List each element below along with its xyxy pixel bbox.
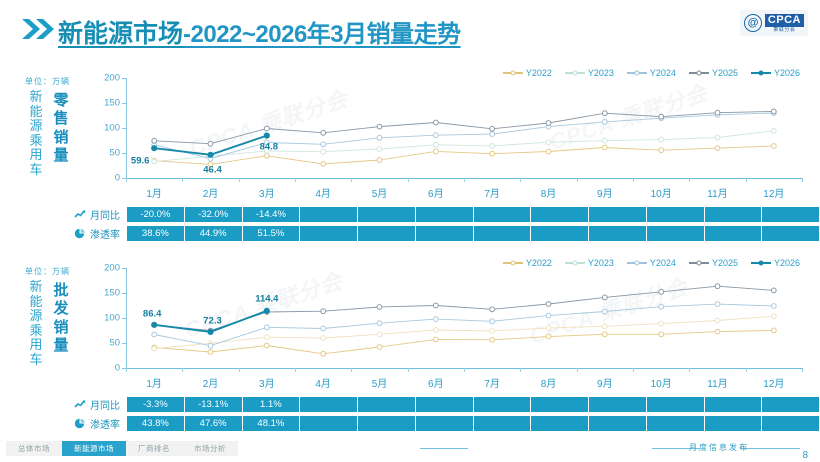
- table-cell: [589, 226, 647, 241]
- table-cell: [762, 207, 819, 222]
- table-cell: [358, 397, 416, 412]
- retail-plot-area: CPCA 乘联分会 CPCA 乘联分会 0501001502001月2月3月4月…: [126, 78, 802, 178]
- footer-caption: 月度信息发布: [689, 442, 749, 453]
- y-axis-tick-label: 0: [115, 363, 120, 374]
- table-cell: [474, 397, 532, 412]
- table-cell: [416, 207, 474, 222]
- series-point-y2024: [264, 325, 269, 330]
- legend-label: Y2022: [526, 258, 552, 268]
- slide-page: 新能源市场 -2022~2026年3月销量走势 @ CPCA 乘联分会 单位：万…: [0, 0, 820, 462]
- series-point-y2025: [264, 126, 269, 131]
- legend-swatch-icon: [751, 72, 771, 73]
- series-point-y2022: [264, 343, 269, 348]
- series-point-y2025: [771, 109, 776, 114]
- data-point-label: 46.4: [203, 164, 222, 175]
- legend-marker-icon: [758, 70, 763, 75]
- legend-swatch-icon: [627, 262, 647, 263]
- series-point-y2023: [433, 142, 438, 147]
- table-cell: -20.0%: [127, 207, 185, 222]
- table-row-label-text: 渗透率: [90, 226, 120, 241]
- series-point-y2025: [546, 121, 551, 126]
- table-row-label: 月同比: [0, 396, 126, 413]
- table-row: 月同比-3.3%-13.1%1.1%: [0, 396, 820, 413]
- logo-emblem-icon: @: [744, 14, 762, 32]
- x-axis-tick: [408, 178, 409, 182]
- y-axis-tick-label: 150: [104, 288, 120, 299]
- series-point-y2023: [433, 328, 438, 333]
- wholesale-category-label: 新能源乘用车: [28, 280, 44, 367]
- x-axis-tick: [464, 368, 465, 372]
- x-axis-tick-label: 12月: [763, 375, 784, 390]
- table-cell: -14.4%: [243, 207, 301, 222]
- legend-item-y2026[interactable]: Y2026: [751, 258, 800, 268]
- series-point-y2024: [490, 319, 495, 324]
- table-cell: [300, 207, 358, 222]
- series-point-y2025: [321, 309, 326, 314]
- table-cell: -13.1%: [185, 397, 243, 412]
- series-point-y2022: [546, 149, 551, 154]
- table-cell: [589, 416, 647, 431]
- retail-stats-table: 月同比-20.0%-32.0%-14.4%渗透率38.6%44.9%51.5%: [0, 206, 820, 242]
- legend-marker-icon: [510, 70, 515, 75]
- table-cell: [705, 226, 763, 241]
- footer-tab-item[interactable]: 总体市场: [6, 441, 62, 456]
- series-point-y2023: [152, 346, 157, 351]
- page-title: 新能源市场 -2022~2026年3月销量走势: [58, 14, 461, 50]
- table-row-label-text: 月同比: [90, 207, 120, 222]
- table-row-label: 渗透率: [0, 225, 126, 242]
- x-axis-tick-label: 11月: [707, 375, 727, 390]
- series-point-y2025: [490, 126, 495, 131]
- series-line-y2023: [154, 131, 774, 162]
- table-cell: [300, 397, 358, 412]
- legend-swatch-icon: [689, 72, 709, 73]
- x-axis-tick-label: 1月: [146, 185, 162, 200]
- series-point-y2022: [771, 144, 776, 149]
- legend-label: Y2025: [712, 68, 738, 78]
- page-title-rest: -2022~2026年3月销量走势: [183, 14, 461, 49]
- y-axis-tick: [122, 128, 126, 129]
- x-axis-tick-label: 10月: [651, 185, 672, 200]
- table-cell: [474, 207, 532, 222]
- series-point-y2026: [152, 322, 157, 327]
- legend-label: Y2026: [774, 68, 800, 78]
- footer-tab-item[interactable]: 厂商排名: [126, 441, 182, 456]
- series-point-y2023: [377, 147, 382, 152]
- series-point-y2022: [490, 337, 495, 342]
- table-cell: 51.5%: [243, 226, 301, 241]
- legend-swatch-icon: [503, 262, 523, 263]
- series-point-y2024: [433, 317, 438, 322]
- y-axis-tick: [122, 78, 126, 79]
- series-point-y2025: [321, 130, 326, 135]
- series-point-y2023: [771, 314, 776, 319]
- footer-tab-active[interactable]: 新能源市场: [62, 441, 126, 456]
- x-axis-tick: [689, 178, 690, 182]
- x-axis-tick-label: 5月: [372, 185, 388, 200]
- table-cell: 47.6%: [185, 416, 243, 431]
- series-point-y2022: [602, 145, 607, 150]
- retail-metric-label: 零售销量: [52, 92, 70, 165]
- series-point-y2023: [771, 128, 776, 133]
- x-axis-tick: [182, 368, 183, 372]
- table-cells: 43.8%47.6%48.1%: [126, 415, 820, 432]
- series-point-y2025: [208, 141, 213, 146]
- wholesale-stats-table: 月同比-3.3%-13.1%1.1%渗透率43.8%47.6%48.1%: [0, 396, 820, 432]
- table-cell: [647, 226, 705, 241]
- y-axis-tick: [122, 318, 126, 319]
- table-cell: [531, 416, 589, 431]
- table-cell: [531, 207, 589, 222]
- series-point-y2022: [715, 146, 720, 151]
- y-axis-tick-label: 0: [115, 173, 120, 184]
- page-number: 8: [802, 450, 808, 461]
- series-line-y2022: [154, 146, 774, 164]
- series-point-y2024: [715, 302, 720, 307]
- series-point-y2023: [602, 324, 607, 329]
- series-point-y2024: [602, 120, 607, 125]
- series-point-y2022: [659, 148, 664, 153]
- table-row-label: 渗透率: [0, 415, 126, 432]
- wholesale-legend: Y2022Y2023Y2024Y2025Y2026: [503, 258, 800, 268]
- x-axis-tick: [295, 178, 296, 182]
- series-point-y2025: [152, 138, 157, 143]
- y-axis-tick-label: 200: [104, 263, 120, 274]
- legend-label: Y2026: [774, 258, 800, 268]
- series-point-y2023: [715, 135, 720, 140]
- y-axis-tick-label: 100: [104, 123, 120, 134]
- series-point-y2024: [208, 343, 213, 348]
- series-point-y2024: [771, 304, 776, 309]
- table-cell: 43.8%: [127, 416, 185, 431]
- series-point-y2022: [715, 329, 720, 334]
- legend-swatch-icon: [627, 72, 647, 73]
- x-axis-tick: [239, 368, 240, 372]
- retail-legend: Y2022Y2023Y2024Y2025Y2026: [503, 68, 800, 78]
- x-axis-tick: [746, 178, 747, 182]
- legend-swatch-icon: [751, 262, 771, 263]
- series-point-y2024: [490, 132, 495, 137]
- x-axis-tick-label: 10月: [651, 375, 672, 390]
- legend-item-y2025[interactable]: Y2025: [689, 68, 738, 78]
- data-point-label: 114.4: [255, 293, 278, 304]
- legend-label: Y2024: [650, 258, 676, 268]
- wholesale-series-svg: [126, 268, 802, 368]
- table-cells: 38.6%44.9%51.5%: [126, 225, 820, 242]
- x-axis-tick-label: 5月: [372, 375, 388, 390]
- x-axis-tick-label: 2月: [203, 185, 219, 200]
- table-cell: [474, 416, 532, 431]
- x-axis-tick-label: 4月: [315, 375, 331, 390]
- series-point-y2024: [321, 142, 326, 147]
- cpca-logo: @ CPCA 乘联分会: [740, 10, 808, 36]
- table-cell: [416, 226, 474, 241]
- legend-swatch-icon: [689, 262, 709, 263]
- y-axis-tick-label: 50: [109, 148, 120, 159]
- legend-marker-icon: [510, 260, 515, 265]
- table-cell: 1.1%: [243, 397, 301, 412]
- x-axis-tick: [802, 178, 803, 182]
- legend-label: Y2023: [588, 258, 614, 268]
- table-cell: 38.6%: [127, 226, 185, 241]
- double-chevron-icon: [22, 18, 56, 40]
- series-point-y2024: [546, 313, 551, 318]
- series-point-y2023: [659, 321, 664, 326]
- legend-label: Y2025: [712, 258, 738, 268]
- table-cell: [705, 207, 763, 222]
- x-axis-tick-label: 9月: [597, 185, 613, 200]
- legend-label: Y2023: [588, 68, 614, 78]
- x-axis-tick: [802, 368, 803, 372]
- series-point-y2025: [433, 120, 438, 125]
- x-axis-tick: [746, 368, 747, 372]
- table-cell: 44.9%: [185, 226, 243, 241]
- x-axis-tick: [295, 368, 296, 372]
- slide-footer: 总体市场新能源市场厂商排名市场分析 月度信息发布 8: [0, 438, 820, 462]
- legend-item-y2025[interactable]: Y2025: [689, 258, 738, 268]
- data-point-label: 72.3: [203, 315, 222, 326]
- wholesale-plot-area: CPCA 乘联分会 CPCA 乘联分会 0501001502001月2月3月4月…: [126, 268, 802, 368]
- series-point-y2026: [264, 308, 269, 313]
- series-point-y2025: [602, 295, 607, 300]
- series-point-y2022: [771, 328, 776, 333]
- table-cell: [705, 416, 763, 431]
- x-axis-tick: [689, 368, 690, 372]
- table-cell: [762, 226, 819, 241]
- table-cell: 48.1%: [243, 416, 301, 431]
- series-line-y2024: [154, 113, 774, 159]
- x-axis-tick: [351, 368, 352, 372]
- series-point-y2023: [377, 332, 382, 337]
- legend-item-y2023[interactable]: Y2023: [565, 68, 614, 78]
- table-cell: [531, 226, 589, 241]
- series-point-y2025: [715, 110, 720, 115]
- series-point-y2025: [377, 124, 382, 129]
- series-point-y2025: [546, 302, 551, 307]
- series-point-y2022: [321, 351, 326, 356]
- x-axis-tick-label: 9月: [597, 375, 613, 390]
- table-row: 渗透率38.6%44.9%51.5%: [0, 225, 820, 242]
- legend-item-y2022[interactable]: Y2022: [503, 68, 552, 78]
- series-point-y2023: [546, 326, 551, 331]
- series-point-y2025: [377, 305, 382, 310]
- legend-item-y2022[interactable]: Y2022: [503, 258, 552, 268]
- table-cell: [300, 416, 358, 431]
- table-cell: [647, 416, 705, 431]
- x-axis-tick-label: 6月: [428, 375, 444, 390]
- slide-header: 新能源市场 -2022~2026年3月销量走势 @ CPCA 乘联分会: [0, 0, 820, 52]
- x-axis-tick-label: 2月: [203, 375, 219, 390]
- series-point-y2025: [659, 289, 664, 294]
- x-axis-tick: [520, 368, 521, 372]
- x-axis-tick-label: 8月: [541, 185, 557, 200]
- y-axis-tick: [122, 103, 126, 104]
- table-cell: [358, 207, 416, 222]
- series-point-y2023: [264, 335, 269, 340]
- y-axis-tick: [122, 153, 126, 154]
- series-point-y2025: [771, 288, 776, 293]
- x-axis-tick: [408, 368, 409, 372]
- series-point-y2023: [659, 137, 664, 142]
- series-point-y2022: [433, 337, 438, 342]
- series-point-y2025: [659, 114, 664, 119]
- x-axis-tick-label: 8月: [541, 375, 557, 390]
- table-cell: -32.0%: [185, 207, 243, 222]
- series-point-y2024: [377, 321, 382, 326]
- series-point-y2025: [490, 307, 495, 312]
- table-cell: [589, 207, 647, 222]
- y-axis-tick-label: 200: [104, 73, 120, 84]
- series-point-y2025: [433, 303, 438, 308]
- footer-tab-item[interactable]: 市场分析: [182, 441, 238, 456]
- legend-label: Y2024: [650, 68, 676, 78]
- line-chart-icon: [74, 209, 86, 220]
- legend-marker-icon: [696, 70, 701, 75]
- footer-rule-left: [420, 448, 468, 449]
- series-point-y2023: [321, 149, 326, 154]
- wholesale-metric-label: 批发销量: [52, 282, 70, 355]
- pie-chart-icon: [74, 228, 86, 239]
- legend-marker-icon: [634, 260, 639, 265]
- x-axis-tick-label: 3月: [259, 375, 275, 390]
- x-axis-tick-label: 6月: [428, 185, 444, 200]
- legend-swatch-icon: [565, 72, 585, 73]
- table-row-label: 月同比: [0, 206, 126, 223]
- legend-item-y2024[interactable]: Y2024: [627, 258, 676, 268]
- x-axis-tick-label: 4月: [315, 185, 331, 200]
- series-point-y2024: [659, 304, 664, 309]
- series-point-y2024: [377, 135, 382, 140]
- y-axis-tick: [122, 343, 126, 344]
- legend-swatch-icon: [565, 262, 585, 263]
- series-point-y2022: [602, 332, 607, 337]
- series-point-y2023: [715, 318, 720, 323]
- x-axis-tick: [126, 178, 127, 182]
- footer-tabs: 总体市场新能源市场厂商排名市场分析: [6, 441, 238, 456]
- x-axis-tick-label: 1月: [146, 375, 162, 390]
- series-point-y2023: [490, 144, 495, 149]
- table-cell: [416, 416, 474, 431]
- legend-marker-icon: [572, 70, 577, 75]
- table-cell: [647, 397, 705, 412]
- y-axis-tick-label: 100: [104, 313, 120, 324]
- table-row-label-text: 渗透率: [90, 416, 120, 431]
- series-point-y2025: [602, 111, 607, 116]
- x-axis-tick: [633, 368, 634, 372]
- table-cell: [416, 397, 474, 412]
- series-point-y2022: [377, 158, 382, 163]
- y-axis-tick-label: 150: [104, 98, 120, 109]
- table-row: 月同比-20.0%-32.0%-14.4%: [0, 206, 820, 223]
- retail-chart: Y2022Y2023Y2024Y2025Y2026 CPCA 乘联分会 CPCA…: [78, 70, 806, 200]
- series-point-y2023: [546, 140, 551, 145]
- legend-item-y2024[interactable]: Y2024: [627, 68, 676, 78]
- x-axis-tick: [182, 178, 183, 182]
- table-cell: [358, 416, 416, 431]
- series-point-y2025: [715, 284, 720, 289]
- series-point-y2022: [321, 162, 326, 167]
- retail-series-svg: [126, 78, 802, 178]
- x-axis-tick: [577, 368, 578, 372]
- series-point-y2023: [152, 159, 157, 164]
- x-axis-tick: [126, 368, 127, 372]
- series-point-y2026: [152, 146, 157, 151]
- series-point-y2026: [208, 152, 213, 157]
- legend-item-y2026[interactable]: Y2026: [751, 68, 800, 78]
- legend-marker-icon: [634, 70, 639, 75]
- table-cell: [762, 397, 819, 412]
- table-cell: [647, 207, 705, 222]
- series-line-y2023: [154, 316, 774, 348]
- legend-item-y2023[interactable]: Y2023: [565, 258, 614, 268]
- page-title-cn: 新能源市场: [58, 14, 183, 50]
- table-row: 渗透率43.8%47.6%48.1%: [0, 415, 820, 432]
- series-point-y2022: [546, 334, 551, 339]
- data-point-label: 59.6: [131, 156, 150, 167]
- x-axis-tick: [239, 178, 240, 182]
- x-axis-tick: [351, 178, 352, 182]
- series-line-y2025: [154, 286, 774, 330]
- logo-wordmark: CPCA: [765, 14, 804, 27]
- x-axis-tick-label: 12月: [763, 185, 784, 200]
- line-chart-icon: [74, 399, 86, 410]
- x-axis-tick: [577, 178, 578, 182]
- legend-swatch-icon: [503, 72, 523, 73]
- table-cell: [358, 226, 416, 241]
- x-axis-tick: [520, 178, 521, 182]
- x-axis-tick-label: 7月: [484, 375, 500, 390]
- x-axis-tick: [464, 178, 465, 182]
- series-point-y2024: [433, 133, 438, 138]
- x-axis-tick: [633, 178, 634, 182]
- table-cell: [705, 397, 763, 412]
- legend-label: Y2022: [526, 68, 552, 78]
- data-point-label: 84.8: [260, 141, 279, 152]
- legend-marker-icon: [572, 260, 577, 265]
- series-point-y2022: [377, 345, 382, 350]
- retail-category-label: 新能源乘用车: [28, 90, 44, 177]
- x-axis-tick-label: 11月: [707, 185, 727, 200]
- table-cell: [531, 397, 589, 412]
- table-cells: -3.3%-13.1%1.1%: [126, 396, 820, 413]
- wholesale-chart: Y2022Y2023Y2024Y2025Y2026 CPCA 乘联分会 CPCA…: [78, 260, 806, 390]
- series-point-y2026: [208, 329, 213, 334]
- table-row-label-text: 月同比: [90, 397, 120, 412]
- series-point-y2022: [490, 151, 495, 156]
- x-axis-tick-label: 3月: [259, 185, 275, 200]
- series-point-y2026: [264, 133, 269, 138]
- pie-chart-icon: [74, 418, 86, 429]
- legend-marker-icon: [696, 260, 701, 265]
- y-axis-tick: [122, 293, 126, 294]
- table-cell: [300, 226, 358, 241]
- x-axis-tick-label: 7月: [484, 185, 500, 200]
- table-cell: [474, 226, 532, 241]
- series-point-y2023: [321, 336, 326, 341]
- y-axis-tick: [122, 268, 126, 269]
- series-point-y2022: [264, 153, 269, 158]
- series-point-y2024: [602, 309, 607, 314]
- series-point-y2023: [602, 138, 607, 143]
- series-point-y2022: [433, 149, 438, 154]
- table-cells: -20.0%-32.0%-14.4%: [126, 206, 820, 223]
- footer-rule-right: [740, 448, 800, 449]
- series-point-y2023: [490, 329, 495, 334]
- series-point-y2024: [321, 326, 326, 331]
- table-cell: [762, 416, 819, 431]
- data-point-label: 86.4: [143, 308, 162, 319]
- logo-subtitle: 乘联分会: [765, 27, 804, 33]
